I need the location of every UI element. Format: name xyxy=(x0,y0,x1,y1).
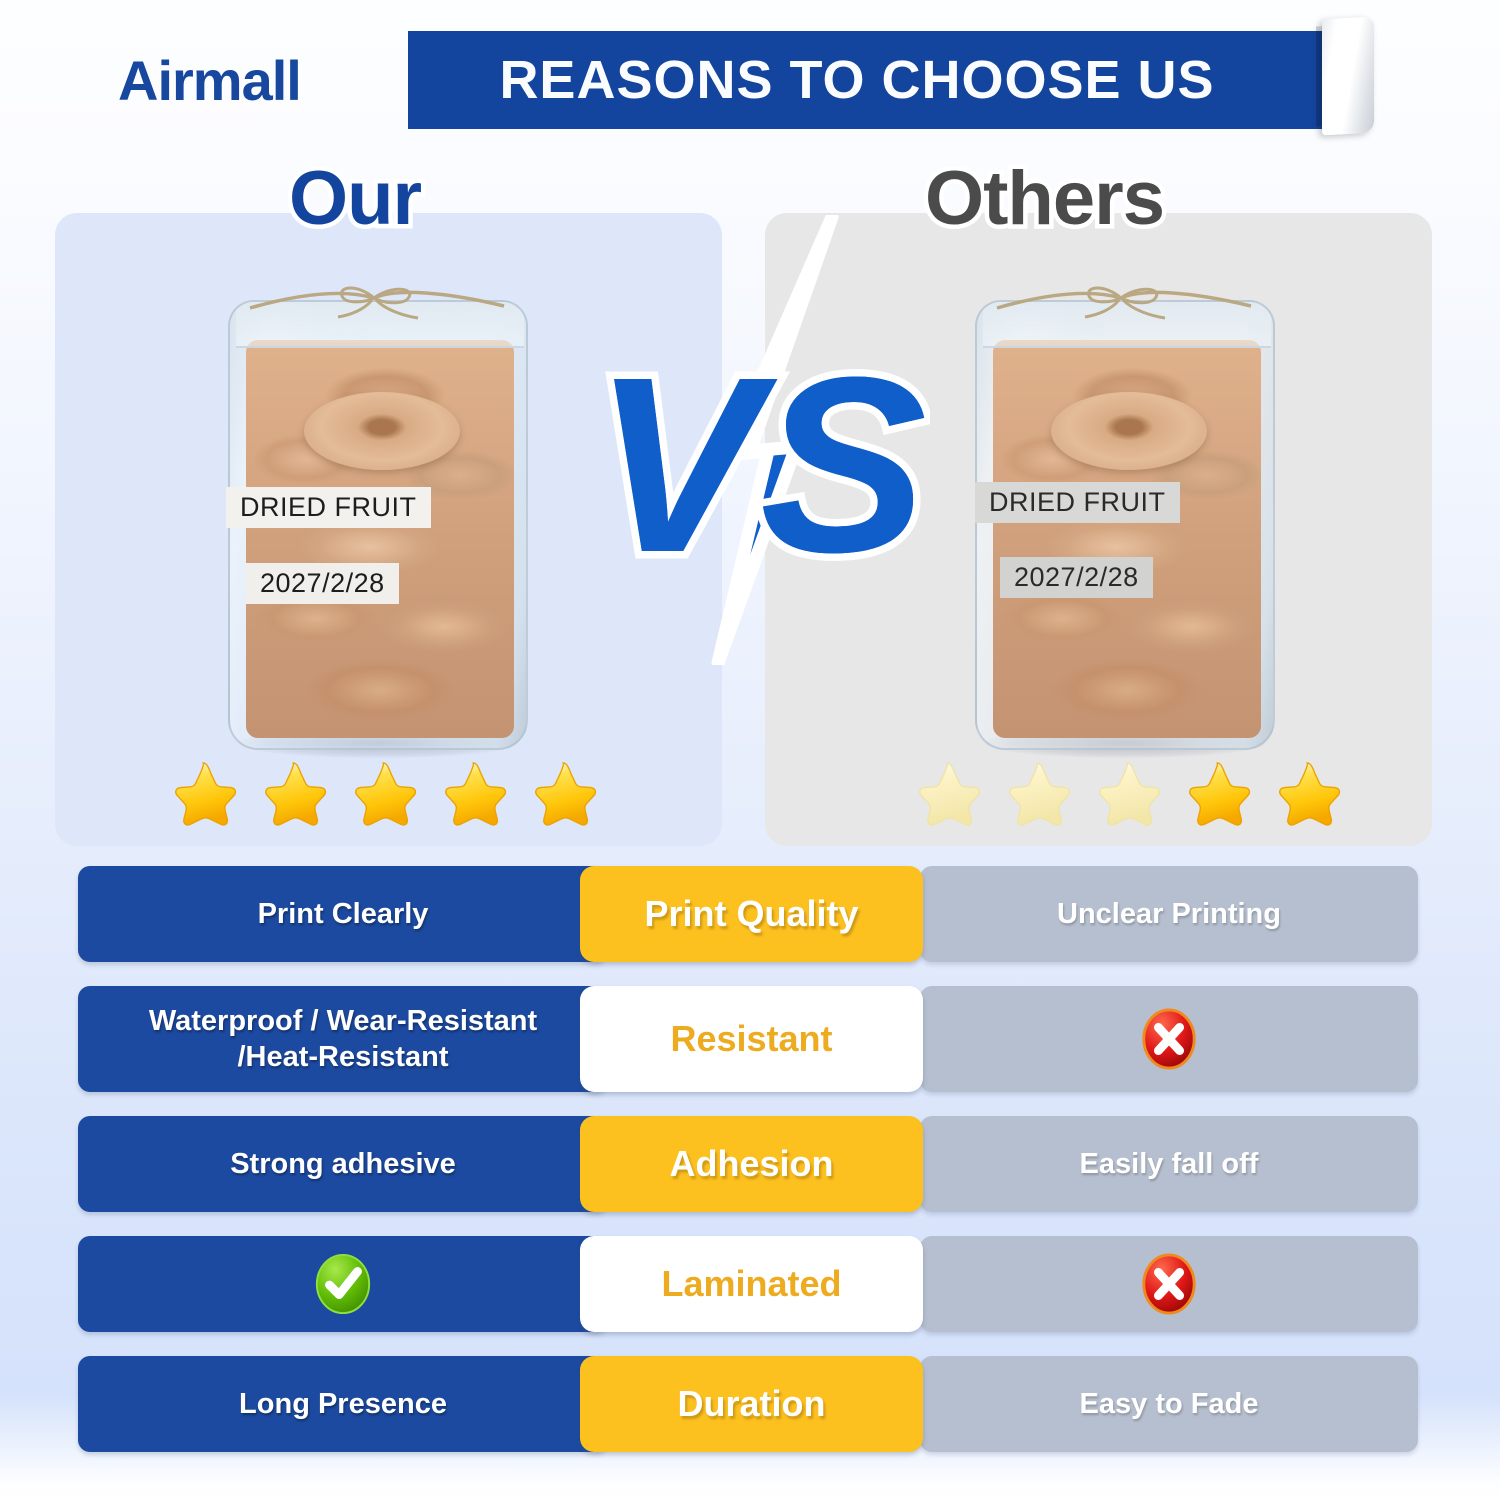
star-4 xyxy=(438,760,507,826)
star-icon xyxy=(912,760,981,826)
banner-title: REASONS TO CHOOSE US xyxy=(408,31,1348,129)
cell-our-2: Waterproof / Wear-Resistant/Heat-Resista… xyxy=(78,986,608,1092)
star-icon xyxy=(528,760,597,826)
star-icon xyxy=(1272,760,1341,826)
cross-icon xyxy=(1138,1253,1200,1315)
cell-feature-5: Duration xyxy=(580,1356,923,1452)
star-5 xyxy=(528,760,597,826)
cross-icon xyxy=(1138,1008,1200,1070)
dried-fruit-contents xyxy=(993,340,1261,738)
versus-badge: VS VS xyxy=(600,215,930,665)
banner-curl-icon xyxy=(1322,17,1374,136)
dried-fruit-contents xyxy=(246,340,514,738)
page-header: Airmall REASONS TO CHOOSE US xyxy=(0,0,1500,160)
cell-feature-2: Resistant xyxy=(580,986,923,1092)
panel-title-our: Our xyxy=(289,155,421,242)
star-icon xyxy=(348,760,417,826)
brand-logo: Airmall xyxy=(118,48,301,113)
table-row: Strong adhesiveEasily fall offAdhesion xyxy=(0,1116,1500,1212)
twine-bow-icon xyxy=(246,286,510,320)
check-icon xyxy=(312,1253,374,1315)
cell-others-4 xyxy=(920,1236,1418,1332)
jar-label-date-our: 2027/2/28 xyxy=(246,563,399,604)
star-3 xyxy=(348,760,417,826)
panel-title-others: Others xyxy=(925,155,1164,242)
star-icon xyxy=(1092,760,1161,826)
twine-bow-icon xyxy=(993,286,1257,320)
star-rating-our xyxy=(168,760,597,826)
cell-our-3: Strong adhesive xyxy=(78,1116,608,1212)
cell-others-2 xyxy=(920,986,1418,1092)
cell-others-1: Unclear Printing xyxy=(920,866,1418,962)
star-icon xyxy=(168,760,237,826)
cell-our-5: Long Presence xyxy=(78,1356,608,1452)
star-2 xyxy=(1002,760,1071,826)
jar-glass xyxy=(975,300,1275,750)
table-row: Long PresenceEasy to FadeDuration xyxy=(0,1356,1500,1452)
star-icon xyxy=(1182,760,1251,826)
star-icon xyxy=(258,760,327,826)
star-4 xyxy=(1182,760,1251,826)
table-row: Print ClearlyUnclear PrintingPrint Quali… xyxy=(0,866,1500,962)
table-row: Waterproof / Wear-Resistant/Heat-Resista… xyxy=(0,986,1500,1092)
cell-feature-4: Laminated xyxy=(580,1236,923,1332)
jar-label-name-our: DRIED FRUIT xyxy=(226,487,431,528)
fruit-ring xyxy=(304,392,460,470)
comparison-table: Print ClearlyUnclear PrintingPrint Quali… xyxy=(0,866,1500,1452)
cell-our-1: Print Clearly xyxy=(78,866,608,962)
star-1 xyxy=(168,760,237,826)
jar-label-name-others: DRIED FRUIT xyxy=(975,482,1180,523)
star-icon xyxy=(1002,760,1071,826)
star-3 xyxy=(1092,760,1161,826)
star-rating-others xyxy=(912,760,1341,826)
cell-feature-1: Print Quality xyxy=(580,866,923,962)
fruit-ring xyxy=(1051,392,1207,470)
cell-others-3: Easily fall off xyxy=(920,1116,1418,1212)
table-row: Laminated xyxy=(0,1236,1500,1332)
cell-others-5: Easy to Fade xyxy=(920,1356,1418,1452)
star-icon xyxy=(438,760,507,826)
header-banner: REASONS TO CHOOSE US xyxy=(408,31,1348,129)
star-2 xyxy=(258,760,327,826)
cell-feature-3: Adhesion xyxy=(580,1116,923,1212)
cell-our-4 xyxy=(78,1236,608,1332)
star-5 xyxy=(1272,760,1341,826)
star-1 xyxy=(912,760,981,826)
svg-text:VS: VS xyxy=(600,325,927,604)
jar-label-date-others: 2027/2/28 xyxy=(1000,557,1153,598)
